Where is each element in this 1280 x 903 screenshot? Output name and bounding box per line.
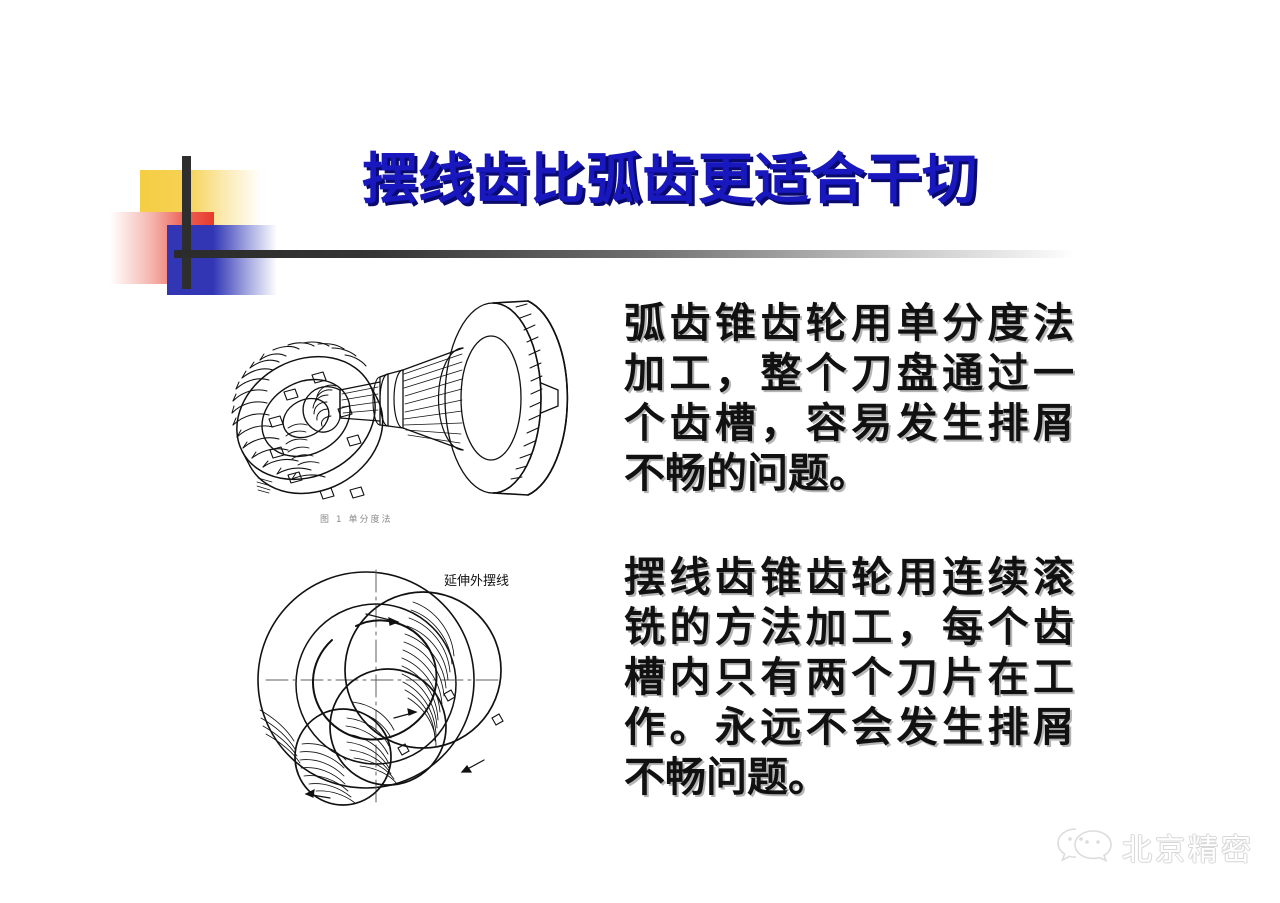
bevel-gear-figure-caption: 图 1 单分度法 (320, 512, 392, 525)
cycloid-annotation-label: 延伸外摆线 (444, 574, 509, 589)
watermark: 北京精密 (1056, 825, 1254, 869)
decor-horizontal-rule (174, 250, 1074, 258)
watermark-label: 北京精密 (1122, 825, 1254, 869)
wechat-icon (1056, 825, 1112, 869)
bevel-gear-figure (228, 278, 584, 540)
slide-title: 摆线齿比弧齿更适合干切 (300, 150, 1040, 208)
decor-vertical-bar (182, 156, 191, 289)
cycloid-figure: 延伸外摆线 (248, 552, 588, 832)
slide-canvas: 摆线齿比弧齿更适合干切 (0, 0, 1280, 903)
body-paragraph-1: 弧齿锥齿轮用单分度法加工，整个刀盘通过一个齿槽，容易发生排屑不畅的问题。 (624, 298, 1074, 498)
body-paragraph-2: 摆线齿锥齿轮用连续滚铣的方法加工，每个齿槽内只有两个刀片在工作。永远不会发生排屑… (624, 552, 1074, 802)
